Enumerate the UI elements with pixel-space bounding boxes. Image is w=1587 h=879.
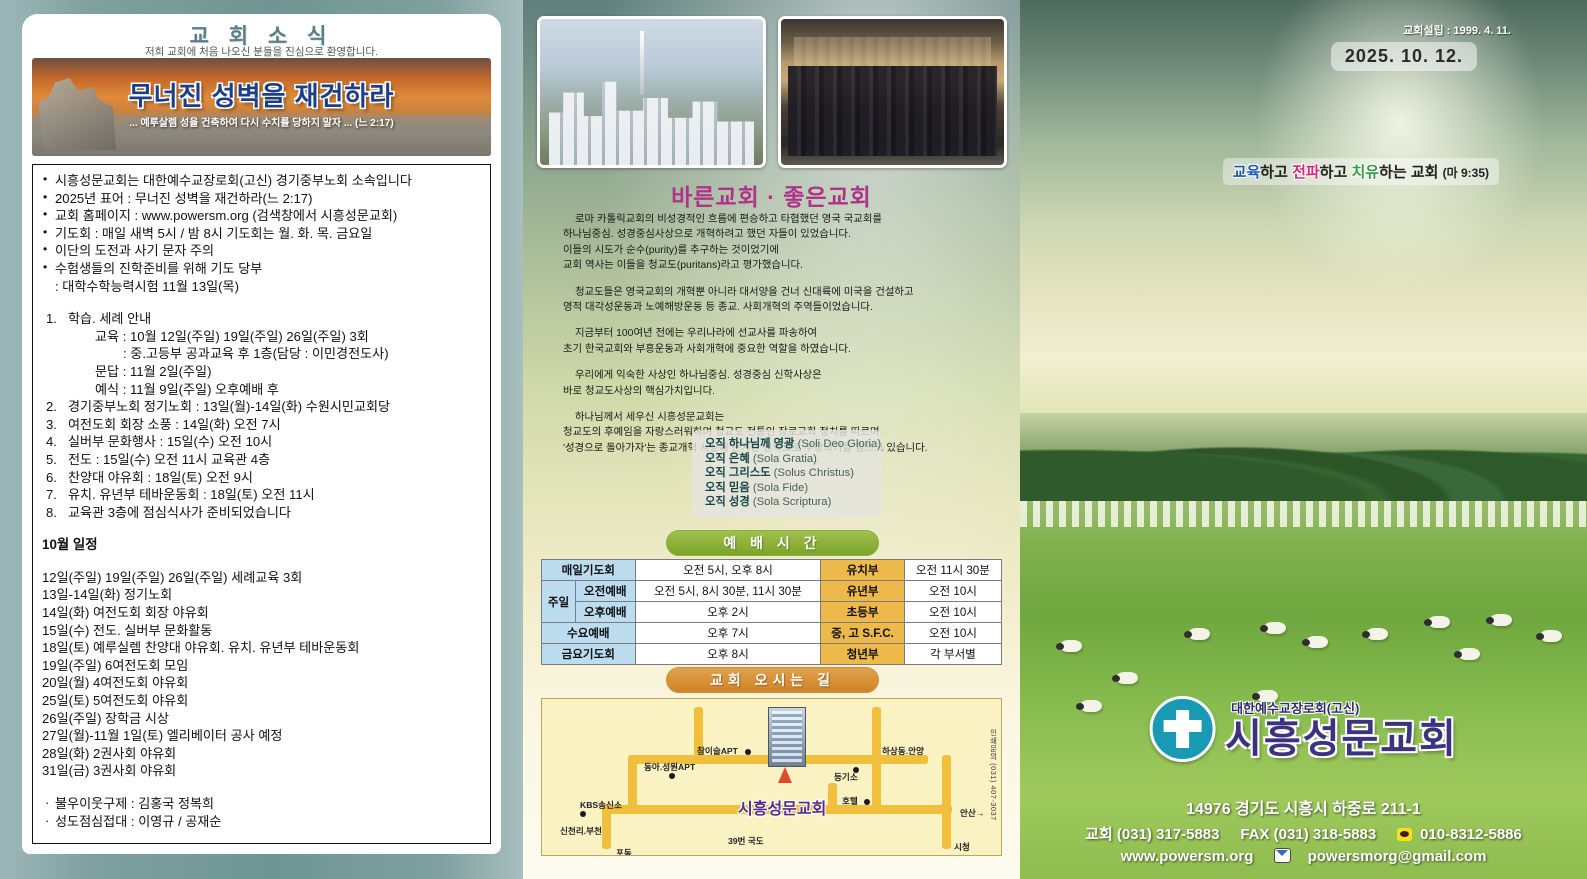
website-url[interactable]: www.powersm.org: [1121, 848, 1254, 865]
bullet-list: 시흥성문교회는 대한예수교장로회(고신) 경기중부노회 소속입니다 2025년 …: [42, 172, 484, 295]
sheep-icon: [1306, 636, 1328, 648]
directions-pill: 교회 오시는 길: [666, 667, 879, 693]
item-text: 경기중부노회 정기노회 : 13일(월)-14일(화) 수원시민교회당: [68, 399, 390, 414]
list-item: 기도회 : 매일 새벽 5시 / 밤 8시 기도회는 월. 화. 목. 금요일: [42, 225, 484, 243]
location-map: 참이슬APT 동아.성원APT KBS송신소 신천리.부천 포동 39번 국도 …: [541, 698, 1002, 856]
list-item: 2.경기중부노회 정기노회 : 13일(월)-14일(화) 수원시민교회당: [42, 398, 484, 416]
slogan-connector: 하고: [1320, 164, 1352, 181]
bulletin-sheet: 교 회 소 식 저희 교회에 처음 나오신 분들을 진심으로 환영합니다. 무너…: [0, 0, 1587, 879]
monthly-schedule-list: 12일(주일) 19일(주일) 26일(주일) 세례교육 3회 13일-14일(…: [42, 569, 484, 780]
item-number: 6.: [46, 469, 57, 487]
sola-korean: 오직 은혜: [705, 453, 750, 465]
worship-schedule-table: 매일기도회 오전 5시, 오후 8시 유치부 오전 11시 30분 주일 오전예…: [541, 559, 1002, 665]
map-label-donga: 동아.성원APT: [644, 761, 695, 773]
table-row: 주일 오전예배 오전 5시, 8시 30분, 11시 30분 유년부 오전 10…: [542, 581, 1002, 602]
welcome-message: 저희 교회에 처음 나오신 분들을 진심으로 환영합니다.: [22, 44, 501, 59]
map-label-sincheonri: 신천리.부천: [560, 825, 602, 837]
list-item: 19일(주일) 6여전도회 모임: [42, 657, 484, 675]
dept-label: 유년부: [821, 581, 904, 602]
map-label-kbs: KBS송신소: [580, 799, 622, 811]
map-road: [872, 707, 881, 807]
list-item: 28일(화) 2권사회 야유회: [42, 745, 484, 763]
row-label: 매일기도회: [542, 560, 636, 581]
item-number: 2.: [46, 398, 57, 416]
item-text: 교육관 3층에 점심식사가 준비되었습니다: [68, 505, 291, 520]
dept-label: 청년부: [821, 644, 904, 665]
slogan-reference: (마 9:35): [1443, 166, 1489, 180]
row-time: 오후 8시: [635, 644, 821, 665]
map-label-sicheong: 시청: [954, 841, 970, 853]
item-text: 찬양대 야유회 : 18일(토) 오전 9시: [68, 470, 253, 485]
item-number: 5.: [46, 451, 57, 469]
sheep-icon: [1060, 640, 1082, 652]
slogan-connector: 하고: [1260, 164, 1292, 181]
sola-item: 오직 그리스도 (Solus Christus): [705, 466, 872, 481]
row-sublabel: 오전예배: [575, 581, 635, 602]
sola-korean: 오직 그리스도: [705, 467, 771, 479]
sola-latin: (Soli Deo Gloria): [798, 438, 882, 450]
dept-time: 각 부서별: [904, 644, 1001, 665]
brand-text: 대한예수교장로회(고신) 시흥성문교회: [1225, 698, 1458, 761]
list-item: 2025년 표어 : 무너진 성벽을 재건하라(느 2:17): [42, 190, 484, 208]
list-item: 15일(수) 전도. 실버부 문화활동: [42, 622, 484, 640]
treeline: [1020, 413, 1587, 501]
map-label-podong: 포동: [616, 847, 632, 856]
printer-contact-code: 인쇄문의 (031) 407-3037: [988, 729, 999, 821]
row-label: 수요예배: [542, 623, 636, 644]
list-item: 14일(화) 여전도회 회장 야유회: [42, 604, 484, 622]
map-dot: [745, 749, 751, 755]
sola-item: 오직 은혜 (Sola Gratia): [705, 452, 872, 467]
list-item: 교회 홈페이지 : www.powersm.org (검색창에서 시흥성문교회): [42, 207, 484, 225]
church-logo-icon: [1149, 696, 1215, 762]
phone-number: 교회 (031) 317-5883: [1085, 826, 1219, 843]
cityscape-photo: [537, 16, 766, 168]
photo-row: [537, 16, 1007, 168]
choir-group-photo: [778, 16, 1007, 168]
list-item-sub: : 중.고등부 공과교육 후 1층(담당 : 이민경전도사): [42, 345, 484, 363]
list-item: 이단의 도전과 사기 문자 주의: [42, 242, 484, 260]
map-road: [942, 755, 951, 849]
bulletin-date: 2025. 10. 12.: [1331, 42, 1477, 71]
church-brand: 대한예수교장로회(고신) 시흥성문교회: [1149, 696, 1458, 762]
church-slogan: 교육하고 전파하고 치유하는 교회 (마 9:35): [1223, 158, 1499, 185]
article-title: 바른교회 · 좋은교회: [523, 178, 1020, 212]
paragraph: 지금부터 100여년 전에는 우리나라에 선교사를 파송하여 초기 한국교회와 …: [563, 326, 988, 357]
item-text: 전도 : 15일(수) 오전 11시 교육관 4층: [68, 452, 270, 467]
sola-item: 오직 믿음 (Sola Fide): [705, 481, 872, 496]
list-item-sub: 교육 : 10월 12일(주일) 19일(주일) 26일(주일) 3회: [42, 328, 484, 346]
map-dot: [580, 811, 586, 817]
church-news-card: 교 회 소 식 저희 교회에 처음 나오신 분들을 진심으로 환영합니다. 무너…: [22, 14, 501, 854]
slogan-word-proclaim: 전파: [1292, 164, 1320, 181]
slogan-word-educate: 교육: [1233, 164, 1261, 181]
list-item: 수험생들의 진학준비를 위해 기도 당부: [42, 260, 484, 278]
row-label: 금요기도회: [542, 644, 636, 665]
list-item: 1.학습. 세례 안내: [42, 310, 484, 328]
list-item: 26일(주일) 장학금 시상: [42, 710, 484, 728]
map-label-hotel: 호텔: [842, 795, 858, 807]
contact-footer: 14976 경기도 시흥시 하중로 211-1 교회 (031) 317-588…: [1020, 795, 1587, 865]
list-item-sub: 예식 : 11월 9일(주일) 오후예배 후: [42, 381, 484, 399]
list-item: 18일(토) 예루실렘 찬양대 야유회. 유치. 유년부 테바운동회: [42, 639, 484, 657]
slogan-word-heal: 치유: [1351, 164, 1379, 181]
map-label-ansan: 안산→: [960, 807, 984, 819]
list-item: 시흥성문교회는 대한예수교장로회(고신) 경기중부노회 소속입니다: [42, 172, 484, 190]
sheep-icon: [1188, 628, 1210, 640]
list-item: 성도점심접대 : 이영규 / 공재순: [42, 813, 484, 831]
banner-headline: 무너진 성벽을 재건하라: [32, 76, 491, 113]
dept-time: 오전 10시: [904, 581, 1001, 602]
sheep-icon: [1116, 672, 1138, 684]
row-time: 오전 5시, 오후 8시: [635, 560, 821, 581]
paragraph: 청교도들은 영국교회의 개혁뿐 아니라 대서양을 건너 신대륙에 미국을 건설하…: [563, 285, 988, 316]
table-row: 오후예배 오후 2시 초등부 오전 10시: [542, 602, 1002, 623]
map-dot: [864, 799, 870, 805]
item-number: 1.: [46, 310, 57, 328]
item-number: 8.: [46, 504, 57, 522]
article-body: 로마 카톨릭교회의 비성경적인 흐름에 편승하고 타협했던 영국 국교회를 하나…: [563, 212, 988, 467]
list-item: 3.여전도회 회장 소풍 : 14일(화) 오전 7시: [42, 416, 484, 434]
sheep-icon: [1366, 628, 1388, 640]
list-item: 8.교육관 3층에 점심식사가 준비되었습니다: [42, 504, 484, 522]
item-text: 실버부 문화행사 : 15일(수) 오전 10시: [68, 434, 272, 449]
mobile-number: 010-8312-5886: [1420, 826, 1522, 843]
map-road: [628, 755, 637, 811]
list-item: 4.실버부 문화행사 : 15일(수) 오전 10시: [42, 433, 484, 451]
list-item: 불우이웃구제 : 김홍국 정복희: [42, 795, 484, 813]
sola-latin: (Sola Gratia): [753, 453, 817, 465]
worship-time-pill: 예 배 시 간: [666, 530, 879, 556]
monthly-schedule-title: 10월 일정: [42, 536, 484, 554]
banner-subtext: ... 예루살렘 성을 건축하여 다시 수치를 당하지 말자 ... (느 2:…: [32, 114, 491, 129]
table-row: 금요기도회 오후 8시 청년부 각 부서별: [542, 644, 1002, 665]
sheep-icon: [1458, 648, 1480, 660]
dept-time: 오전 11시 30분: [904, 560, 1001, 581]
list-item: 20일(월) 4여전도회 야유회: [42, 674, 484, 692]
sola-korean: 오직 믿음: [705, 482, 750, 494]
map-road: [602, 805, 611, 849]
email-address[interactable]: powersmorg@gmail.com: [1308, 848, 1487, 865]
row-sublabel: 오후예배: [575, 602, 635, 623]
row-time: 오전 5시, 8시 30분, 11시 30분: [635, 581, 821, 602]
list-item: 27일(월)-11월 1일(토) 엘리베이터 공사 예정: [42, 727, 484, 745]
kakaotalk-icon: [1397, 828, 1412, 841]
paragraph: 우리에게 익숙한 사상인 하나님중심. 성경중심 신학사상은 바로 청교도사상의…: [563, 368, 988, 399]
theme-banner: 무너진 성벽을 재건하라 ... 예루살렘 성을 건축하여 다시 수치를 당하지…: [32, 58, 491, 156]
list-item-sub: : 대학수학능력시험 11월 13일(목): [42, 278, 484, 296]
map-label-hasangdong: 하상동.안양: [882, 745, 924, 757]
map-label-road39: 39번 국도: [728, 835, 764, 847]
map-label-church: 시흥성문교회: [738, 795, 826, 819]
right-panel: 교회설립 : 1999. 4. 11. 2025. 10. 12. 교육하고 전…: [1020, 0, 1587, 879]
list-item: 13일-14일(화) 정기노회: [42, 586, 484, 604]
sola-korean: 오직 성경: [705, 496, 750, 508]
list-item: 31일(금) 3권사회 야유회: [42, 762, 484, 780]
dept-label: 초등부: [821, 602, 904, 623]
sheep-icon: [1428, 616, 1450, 628]
left-panel: 교 회 소 식 저희 교회에 처음 나오신 분들을 진심으로 환영합니다. 무너…: [0, 0, 523, 879]
list-item: 6.찬양대 야유회 : 18일(토) 오전 9시: [42, 469, 484, 487]
list-item: 25일(토) 5여전도회 야유회: [42, 692, 484, 710]
row-label: 주일: [542, 581, 576, 623]
sola-latin: (Solus Christus): [774, 467, 854, 479]
church-address: 14976 경기도 시흥시 하중로 211-1: [1020, 795, 1587, 819]
item-number: 4.: [46, 433, 57, 451]
contact-line-phone: 교회 (031) 317-5883 FAX (031) 318-5883 010…: [1020, 823, 1587, 844]
sola-latin: (Sola Fide): [753, 482, 808, 494]
map-label-deunggiso: 등기소: [834, 771, 858, 783]
contact-line-web: www.powersm.org powersmorg@gmail.com: [1020, 848, 1587, 865]
row-time: 오후 7시: [635, 623, 821, 644]
service-duty-list: 불우이웃구제 : 김홍국 정복희 성도점심접대 : 이영규 / 공재순: [42, 795, 484, 830]
sola-latin: (Sola Scriptura): [753, 496, 831, 508]
church-building-icon: [768, 707, 806, 767]
sheep-icon: [1540, 630, 1562, 642]
location-pin-icon: [778, 767, 792, 783]
item-text: 여전도회 회장 소풍 : 14일(화) 오전 7시: [68, 417, 281, 432]
sola-item: 오직 하나님께 영광 (Soli Deo Gloria): [705, 437, 872, 452]
list-item: 5.전도 : 15일(수) 오전 11시 교육관 4층: [42, 451, 484, 469]
news-body: 시흥성문교회는 대한예수교장로회(고신) 경기중부노회 소속입니다 2025년 …: [32, 164, 491, 844]
numbered-list: 1.학습. 세례 안내 교육 : 10월 12일(주일) 19일(주일) 26일…: [42, 310, 484, 521]
denomination-label: 대한예수교장로회(고신): [1231, 698, 1359, 717]
item-number: 7.: [46, 486, 57, 504]
row-time: 오후 2시: [635, 602, 821, 623]
item-number: 3.: [46, 416, 57, 434]
map-road: [828, 783, 837, 809]
founding-date: 교회설립 : 1999. 4. 11.: [1403, 22, 1511, 38]
paragraph: 로마 카톨릭교회의 비성경적인 흐름에 편승하고 타협했던 영국 국교회를 하나…: [563, 212, 988, 274]
dept-label: 중, 고 S.F.C.: [821, 623, 904, 644]
table-row: 수요예배 오후 7시 중, 고 S.F.C. 오전 10시: [542, 623, 1002, 644]
dept-time: 오전 10시: [904, 602, 1001, 623]
list-item: 12일(주일) 19일(주일) 26일(주일) 세례교육 3회: [42, 569, 484, 587]
item-text: 학습. 세례 안내: [68, 311, 151, 326]
dept-time: 오전 10시: [904, 623, 1001, 644]
list-item: 7.유치. 유년부 테바운동회 : 18일(토) 오전 11시: [42, 486, 484, 504]
fax-number: FAX (031) 318-5883: [1240, 826, 1376, 843]
distant-flock: [1020, 501, 1587, 527]
middle-panel: 바른교회 · 좋은교회 로마 카톨릭교회의 비성경적인 흐름에 편승하고 타협했…: [523, 0, 1020, 879]
sheep-icon: [1080, 700, 1102, 712]
table-row: 매일기도회 오전 5시, 오후 8시 유치부 오전 11시 30분: [542, 560, 1002, 581]
sola-korean: 오직 하나님께 영광: [705, 438, 794, 450]
sheep-icon: [1490, 614, 1512, 626]
item-text: 유치. 유년부 테바운동회 : 18일(토) 오전 11시: [68, 487, 315, 502]
email-icon: [1274, 848, 1291, 863]
map-dot: [669, 773, 675, 779]
slogan-connector: 하는 교회: [1379, 164, 1443, 181]
map-label-chamisul: 참이슬APT: [697, 745, 738, 757]
list-item-sub: 문답 : 11월 2일(주일): [42, 363, 484, 381]
church-name: 시흥성문교회: [1225, 717, 1458, 761]
sola-item: 오직 성경 (Sola Scriptura): [705, 495, 872, 510]
dept-label: 유치부: [821, 560, 904, 581]
sheep-icon: [1264, 622, 1286, 634]
five-solas-box: 오직 하나님께 영광 (Soli Deo Gloria) 오직 은혜 (Sola…: [692, 430, 882, 518]
